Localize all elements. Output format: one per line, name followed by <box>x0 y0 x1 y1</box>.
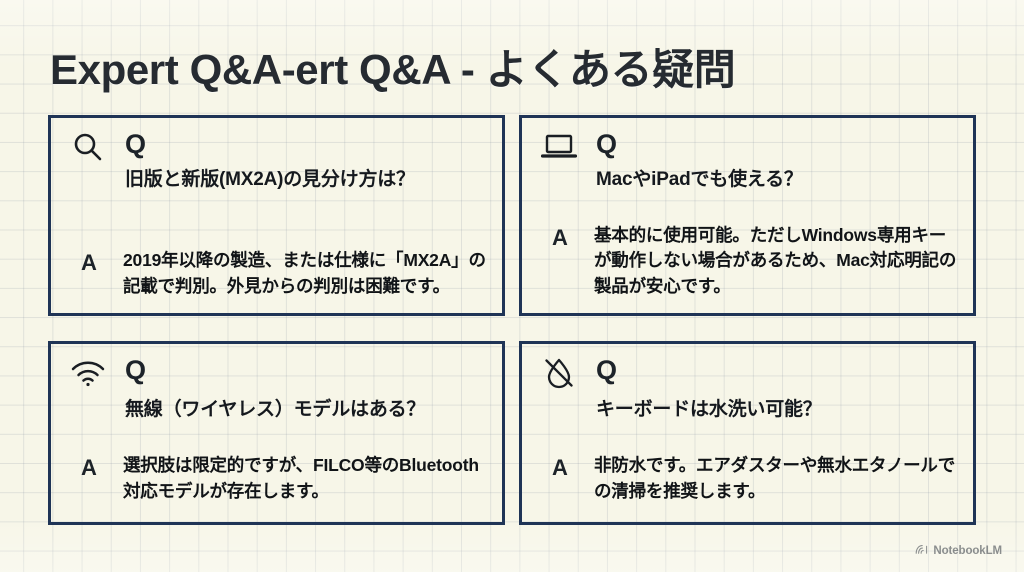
question-text: MacやiPadでも使える？ <box>596 168 957 192</box>
question-marker: Q <box>125 357 146 384</box>
answer-text: 非防水です。エアダスターや無水エタノールでの清掃を推奨します。 <box>594 453 957 504</box>
question-marker: Q <box>596 357 617 384</box>
answer-marker: A <box>69 453 109 482</box>
magnifier-icon <box>69 130 107 164</box>
answer-row: A 選択肢は限定的ですが、FILCO等のBluetooth対応モデルが存在します… <box>69 453 486 504</box>
answer-text: 基本的に使用可能。ただしWindows専用キーが動作しない場合があるため、Mac… <box>594 223 957 299</box>
no-water-icon <box>540 356 578 390</box>
laptop-icon <box>540 130 578 164</box>
question-text: 旧版と新版(MX2A)の見分け方は？ <box>125 168 486 192</box>
answer-row: A 2019年以降の製造、または仕様に「MX2A」の記載で判別。外見からの判別は… <box>69 248 486 299</box>
qa-card-grid: Q 旧版と新版(MX2A)の見分け方は？ A 2019年以降の製造、または仕様に… <box>48 115 976 525</box>
slide-canvas: Expert Q&A-ert Q&A - よくある疑問 Q 旧版と新版(MX2A… <box>0 0 1024 572</box>
notebooklm-watermark: NotebookLM <box>915 542 1002 560</box>
answer-row: A 基本的に使用可能。ただしWindows専用キーが動作しない場合があるため、M… <box>540 223 957 299</box>
card-header: Q <box>69 356 486 396</box>
question-text: キーボードは水洗い可能？ <box>596 398 957 422</box>
card-header: Q <box>540 356 957 396</box>
answer-row: A 非防水です。エアダスターや無水エタノールでの清掃を推奨します。 <box>540 453 957 504</box>
notebooklm-label: NotebookLM <box>933 545 1002 557</box>
qa-card: Q 無線（ワイヤレス）モデルはある？ A 選択肢は限定的ですが、FILCO等のB… <box>48 341 505 525</box>
answer-marker: A <box>69 248 109 277</box>
answer-marker: A <box>540 223 580 252</box>
page-title: Expert Q&A-ert Q&A - よくある疑問 <box>50 36 735 97</box>
qa-card: Q MacやiPadでも使える？ A 基本的に使用可能。ただしWindows専用… <box>519 115 976 316</box>
card-header: Q <box>540 130 957 170</box>
qa-card: Q 旧版と新版(MX2A)の見分け方は？ A 2019年以降の製造、または仕様に… <box>48 115 505 316</box>
question-text: 無線（ワイヤレス）モデルはある？ <box>125 398 486 422</box>
answer-text: 選択肢は限定的ですが、FILCO等のBluetooth対応モデルが存在します。 <box>123 453 486 504</box>
notebooklm-logo-icon <box>915 542 928 560</box>
wifi-icon <box>69 356 107 390</box>
question-marker: Q <box>596 131 617 158</box>
card-header: Q <box>69 130 486 170</box>
question-marker: Q <box>125 131 146 158</box>
answer-marker: A <box>540 453 580 482</box>
qa-card: Q キーボードは水洗い可能？ A 非防水です。エアダスターや無水エタノールでの清… <box>519 341 976 525</box>
answer-text: 2019年以降の製造、または仕様に「MX2A」の記載で判別。外見からの判別は困難… <box>123 248 486 299</box>
